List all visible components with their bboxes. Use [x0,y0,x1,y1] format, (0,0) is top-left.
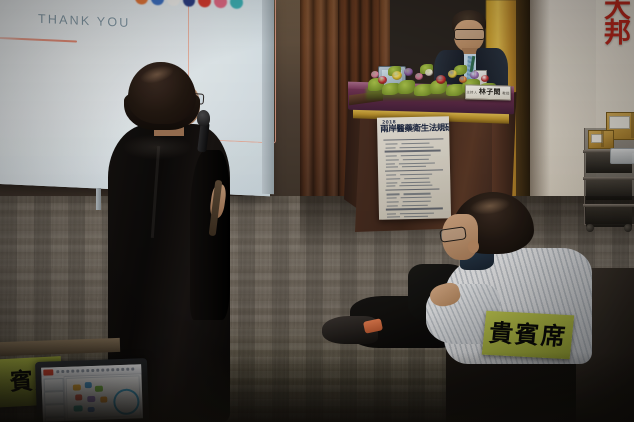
poster-text-seg [387,194,400,195]
poster-text-seg [385,188,439,191]
poster-text-seg [383,138,443,141]
screen-support-pole [96,188,101,210]
poster-text-seg [401,155,431,157]
slide-icon-white [167,0,180,6]
cart-shelf-face-1 [586,180,632,200]
bloom-white [425,69,433,76]
speaker-glasses-icon [454,29,485,40]
poster-text-seg [386,147,396,148]
poster-text-seg [386,186,395,187]
slide-icon-teal [230,0,243,9]
poster-text-seg [387,201,399,202]
podium-nameplate: 主持人林子閎教授 [465,84,511,100]
poster-text-seg [400,174,432,176]
bloom-red-2 [436,75,446,84]
bloom-purple-2 [470,71,479,79]
bloom-orange [459,76,467,83]
poster-text-seg [386,167,398,168]
poster-text-seg [401,181,430,183]
poster-text-seg [385,169,443,172]
poster-text-seg [386,182,397,183]
slide-icon-blue [151,0,164,5]
bloom-red [378,76,387,84]
storage-bin [610,148,634,164]
vip-seat-sign-right-text: 貴賓席 [488,321,568,349]
box-shipping-label [609,116,630,129]
nameplate-name: 林子閎 [479,88,501,97]
poster-text-seg [386,163,395,164]
conference-photo: 大邦 THANK YOU [0,0,634,422]
poster-text-seg [403,159,429,161]
bloom-yellow-2 [448,70,457,78]
attendee-ear [468,240,479,253]
bloom-red-3 [481,75,489,82]
poster-text-seg [386,178,400,179]
bloom-pink-2 [371,71,379,78]
foreground-shadow [0,352,634,422]
poster-text-seg [401,143,429,145]
poster-title: 兩岸醫藥衛生法規研討會 [380,124,446,134]
wall-sign-char-1: 邦 [604,21,634,46]
nameplate-suffix: 教授 [502,91,509,95]
poster-text-seg [385,150,441,153]
poster-text-seg [399,185,432,187]
bloom-purple [404,68,413,76]
cart-wheel-1 [624,224,632,232]
poster-text-seg [399,162,435,164]
slide-icon-orange [135,0,148,4]
poster-text-seg [386,175,396,176]
slide-icon-red [198,0,211,7]
poster-text-seg [385,144,397,145]
poster-text-seg [387,205,398,206]
slide-icon-navy [183,0,196,6]
microphone-icon [197,110,210,126]
slide-icon-pink [214,0,227,8]
poster-text-seg [404,178,429,180]
bloom-yellow [392,71,402,80]
poster-text-seg [400,147,434,149]
wall-signage-chinese: 大邦 [604,0,634,48]
poster-text-seg [387,217,400,218]
poster-text-seg [387,197,397,198]
flower-leaf-2 [398,80,415,94]
poster-text-seg [387,213,396,214]
bloom-pink [415,73,423,80]
nameplate-prefix: 主持人 [466,90,477,94]
screen-right-edge [262,0,274,194]
box-tape [601,130,604,147]
poster-text-seg [386,156,397,157]
poster-text-seg [402,166,426,168]
poster-text-seg [386,159,399,160]
